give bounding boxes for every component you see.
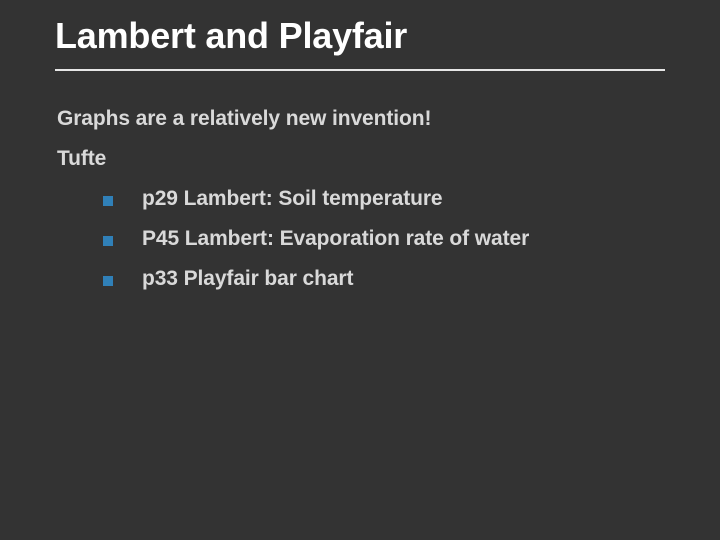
- square-bullet-icon: [103, 236, 113, 246]
- slide-body: Graphs are a relatively new invention! T…: [0, 104, 720, 304]
- bullet-label: P45 Lambert: Evaporation rate of water: [142, 224, 529, 254]
- bullet-label: Graphs are a relatively new invention!: [57, 104, 431, 134]
- bullet-item-4: P45 Lambert: Evaporation rate of water: [0, 224, 720, 264]
- bullet-item-1: Graphs are a relatively new invention!: [0, 104, 720, 144]
- square-bullet-icon: [103, 276, 113, 286]
- square-bullet-icon: [103, 196, 113, 206]
- bullet-label: p33 Playfair bar chart: [142, 264, 353, 294]
- slide-title-block: Lambert and Playfair: [55, 14, 675, 58]
- bullet-item-5: p33 Playfair bar chart: [0, 264, 720, 304]
- title-divider: [55, 69, 665, 71]
- presentation-slide: Lambert and Playfair Graphs are a relati…: [0, 0, 720, 540]
- bullet-item-3: p29 Lambert: Soil temperature: [0, 184, 720, 224]
- page-title: Lambert and Playfair: [55, 14, 675, 58]
- bullet-label: Tufte: [57, 144, 106, 174]
- bullet-item-2: Tufte: [0, 144, 720, 184]
- bullet-label: p29 Lambert: Soil temperature: [142, 184, 443, 214]
